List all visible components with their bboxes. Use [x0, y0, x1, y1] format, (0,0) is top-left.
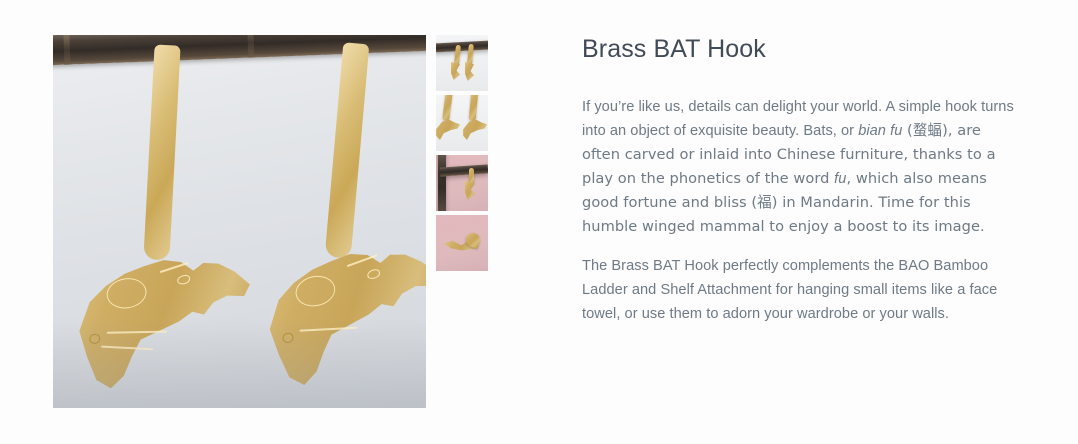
thumbnail-3[interactable] [436, 155, 488, 211]
bat-ornament [465, 181, 475, 200]
emphasised-term: bian fu [858, 123, 902, 139]
product-description-paragraph-1: If you’re like us, details can delight y… [582, 95, 1016, 239]
product-details: Brass BAT Hook If you’re like us, detail… [582, 34, 1016, 326]
thumbnail-4-scene [436, 215, 488, 271]
hook-shank [469, 95, 479, 121]
rod-node-icon [247, 35, 254, 58]
thumbnail-3-scene [436, 155, 488, 211]
rod-node-icon [63, 35, 70, 65]
hero-scene [53, 35, 426, 408]
description-text: The Brass BAT Hook perfectly complements… [582, 258, 997, 322]
page-title: Brass BAT Hook [582, 34, 1016, 64]
thumbnail-1-scene [436, 35, 488, 91]
hook-shank [442, 95, 453, 121]
bamboo-rod [436, 41, 488, 53]
hook-shank [467, 44, 474, 65]
product-description-paragraph-2: The Brass BAT Hook perfectly complements… [582, 254, 1016, 326]
product-gallery [53, 35, 488, 408]
emphasised-term: fu [834, 171, 846, 187]
bat-ornament [451, 62, 460, 80]
thumbnail-2[interactable] [436, 95, 488, 151]
thumbnail-2-scene [436, 95, 488, 151]
bamboo-upright [438, 155, 446, 211]
product-detail-page: Brass BAT Hook If you’re like us, detail… [0, 0, 1078, 444]
thumbnail-4[interactable] [436, 215, 488, 271]
bamboo-rod [440, 164, 488, 176]
hook-shank [454, 45, 461, 65]
hero-product-image[interactable] [53, 35, 426, 408]
thumbnail-rail [436, 35, 488, 271]
bamboo-rod [53, 35, 426, 66]
bat-ornament [465, 62, 474, 81]
hero-floor-shadow [53, 318, 426, 408]
thumbnail-1[interactable] [436, 35, 488, 91]
hook-shank [469, 168, 474, 184]
